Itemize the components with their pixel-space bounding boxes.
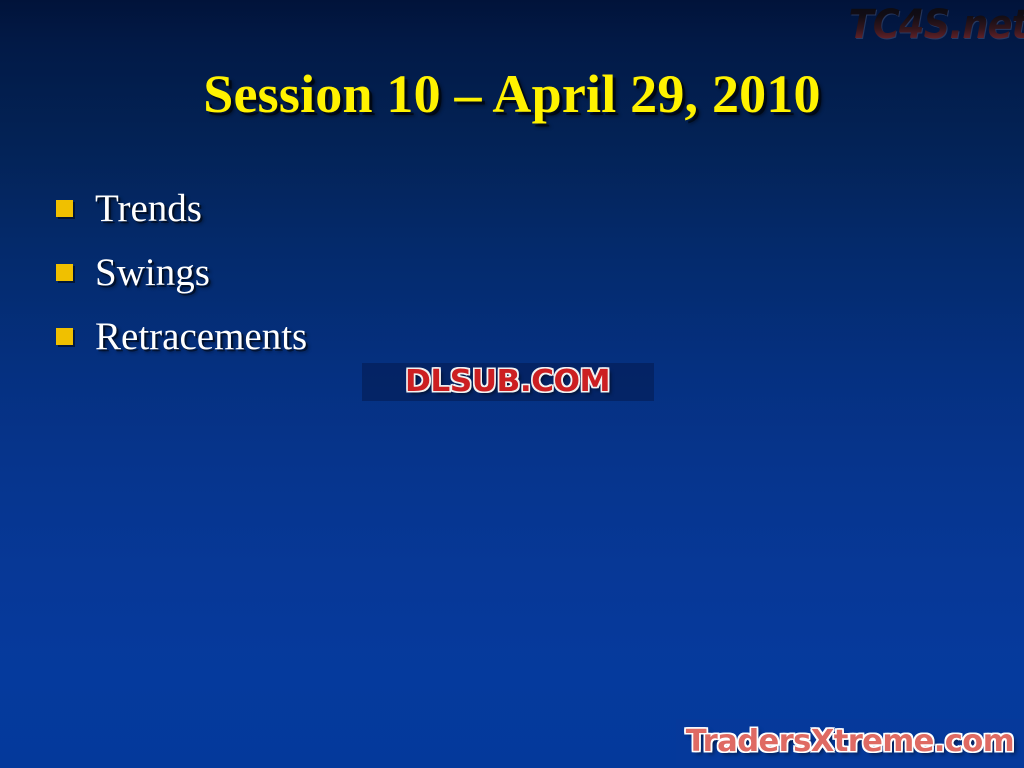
watermark-tradersxtreme-box: TradersXtreme.com bbox=[676, 719, 1024, 765]
bullet-list: Trends Swings Retracements bbox=[56, 186, 756, 378]
list-item: Swings bbox=[56, 250, 756, 314]
list-item-label: Swings bbox=[95, 250, 210, 296]
watermark-dlsub-text: DLSUB.COM bbox=[405, 366, 610, 398]
watermark-dlsub-box: DLSUB.COM bbox=[362, 363, 654, 401]
watermark-tradersxtreme-text: TradersXtreme.com bbox=[686, 725, 1014, 759]
slide-title: Session 10 – April 29, 2010 bbox=[0, 62, 1024, 126]
square-bullet-icon bbox=[56, 328, 73, 345]
list-item-label: Trends bbox=[95, 186, 202, 232]
watermark-tc4s: TC4S.net bbox=[848, 2, 1024, 48]
list-item-label: Retracements bbox=[95, 314, 307, 360]
square-bullet-icon bbox=[56, 264, 73, 281]
square-bullet-icon bbox=[56, 200, 73, 217]
list-item: Trends bbox=[56, 186, 756, 250]
presentation-slide: Session 10 – April 29, 2010 Trends Swing… bbox=[0, 0, 1024, 768]
